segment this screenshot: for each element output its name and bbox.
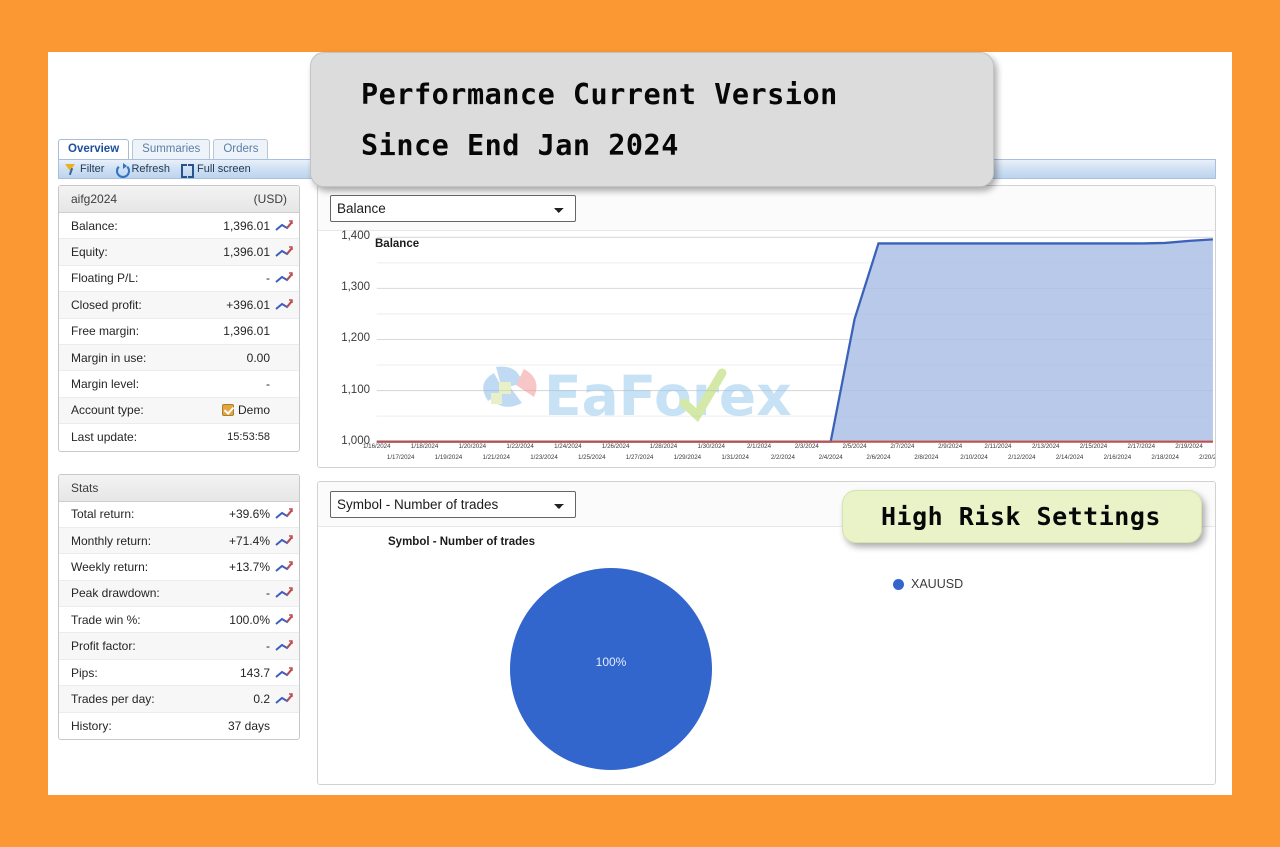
info-row-label: Account type:	[71, 403, 222, 417]
info-row-value: 0.2	[253, 692, 270, 706]
info-row-value: +39.6%	[229, 507, 270, 521]
info-row: Profit factor:-	[59, 633, 299, 659]
spark-placeholder	[275, 378, 293, 390]
info-row-value: 1,396.01	[223, 324, 270, 338]
account-rows: Balance:1,396.01Equity:1,396.01Floating …	[59, 213, 299, 451]
refresh-icon	[115, 163, 128, 176]
filter-label: Filter	[80, 163, 104, 175]
info-row-label: Total return:	[71, 507, 229, 521]
sparkline-chart-icon[interactable]	[275, 561, 293, 573]
stats-title: Stats	[71, 481, 98, 495]
info-row: Equity:1,396.01	[59, 239, 299, 265]
sparkline-chart-icon[interactable]	[275, 587, 293, 599]
info-row-label: Free margin:	[71, 324, 223, 338]
info-row: Floating P/L:-	[59, 266, 299, 292]
balance-chart-toolbar: BalanceEquityFloating P/LClosed profit	[318, 186, 1215, 231]
info-row: Monthly return:+71.4%	[59, 528, 299, 554]
callout-performance-title: Performance Current Version Since End Ja…	[310, 52, 994, 187]
spark-placeholder	[275, 720, 293, 732]
pie-metric-select[interactable]: Symbol - Number of tradesSymbol - Profit…	[330, 491, 576, 518]
refresh-label: Refresh	[131, 163, 170, 175]
stats-panel-header: Stats	[59, 475, 299, 502]
info-row-value: 15:53:58	[227, 431, 270, 443]
stats-panel: Stats Total return:+39.6%Monthly return:…	[58, 474, 300, 741]
stats-rows: Total return:+39.6%Monthly return:+71.4%…	[59, 502, 299, 740]
balance-line-chart	[318, 231, 1215, 468]
balance-chart-card: BalanceEquityFloating P/LClosed profit B…	[317, 185, 1216, 468]
filter-icon	[64, 163, 77, 176]
demo-checkbox[interactable]	[222, 404, 234, 416]
balance-plot-area: Balance EaForex	[318, 231, 1215, 468]
info-row-label: Peak drawdown:	[71, 586, 266, 600]
account-currency: (USD)	[254, 192, 287, 206]
info-row-label: Weekly return:	[71, 560, 229, 574]
account-summary-panel: aifg2024 (USD) Balance:1,396.01Equity:1,…	[58, 185, 300, 452]
callout-risk-label: High Risk Settings	[881, 502, 1201, 531]
info-row-label: Equity:	[71, 245, 223, 259]
pie-slice-percent-label: 100%	[510, 655, 712, 669]
info-row-value: 0.00	[247, 351, 270, 365]
sparkline-chart-icon[interactable]	[275, 640, 293, 652]
info-row-value: -	[266, 271, 270, 285]
sparkline-chart-icon[interactable]	[275, 535, 293, 547]
info-row: Last update:15:53:58	[59, 424, 299, 450]
fullscreen-icon	[181, 163, 194, 176]
tab-orders[interactable]: Orders	[213, 139, 268, 159]
info-row: History:37 days	[59, 713, 299, 739]
info-row-label: Profit factor:	[71, 639, 266, 653]
legend-label-xauusd: XAUUSD	[911, 577, 963, 591]
info-row: Weekly return:+13.7%	[59, 554, 299, 580]
info-row-value: 100.0%	[229, 613, 270, 627]
info-row-label: Last update:	[71, 430, 227, 444]
sparkline-chart-icon[interactable]	[275, 220, 293, 232]
refresh-button[interactable]: Refresh	[115, 163, 170, 176]
info-row-value: -	[266, 639, 270, 653]
sparkline-chart-icon[interactable]	[275, 299, 293, 311]
info-row: Pips:143.7	[59, 660, 299, 686]
pie-plot-title: Symbol - Number of trades	[388, 536, 535, 548]
balance-metric-select[interactable]: BalanceEquityFloating P/LClosed profit	[330, 195, 576, 222]
info-row: Trade win %:100.0%	[59, 607, 299, 633]
info-row: Account type:Demo	[59, 398, 299, 424]
tab-overview[interactable]: Overview	[58, 139, 129, 159]
info-row: Free margin:1,396.01	[59, 319, 299, 345]
pie-legend: XAUUSD	[893, 577, 963, 591]
info-row-label: History:	[71, 719, 228, 733]
info-row-label: Trades per day:	[71, 692, 253, 706]
sparkline-chart-icon[interactable]	[275, 272, 293, 284]
sparkline-chart-icon[interactable]	[275, 508, 293, 520]
info-row-value: +13.7%	[229, 560, 270, 574]
callout-title-line2: Since End Jan 2024	[361, 120, 993, 171]
spark-placeholder	[275, 431, 293, 443]
info-row-label: Floating P/L:	[71, 271, 266, 285]
info-row-label: Margin level:	[71, 377, 266, 391]
spark-placeholder	[275, 404, 293, 416]
info-row-value-text: Demo	[238, 403, 270, 417]
fullscreen-label: Full screen	[197, 163, 251, 175]
sparkline-chart-icon[interactable]	[275, 667, 293, 679]
content-area: aifg2024 (USD) Balance:1,396.01Equity:1,…	[58, 185, 1216, 785]
info-row: Peak drawdown:-	[59, 581, 299, 607]
sparkline-chart-icon[interactable]	[275, 693, 293, 705]
account-name: aifg2024	[71, 192, 117, 206]
info-row: Margin level:-	[59, 371, 299, 397]
callout-high-risk: High Risk Settings	[842, 490, 1202, 543]
info-row-label: Trade win %:	[71, 613, 229, 627]
tab-summaries[interactable]: Summaries	[132, 139, 210, 159]
callout-title-line1: Performance Current Version	[361, 69, 993, 120]
pie-plot-area: Symbol - Number of trades 100% XAUUSD	[318, 527, 1215, 784]
fullscreen-button[interactable]: Full screen	[181, 163, 251, 176]
spark-placeholder	[275, 352, 293, 364]
pie-slice-xauusd[interactable]: 100%	[510, 568, 712, 770]
info-row-label: Balance:	[71, 219, 223, 233]
info-row-label: Margin in use:	[71, 351, 247, 365]
info-row-value: Demo	[222, 403, 270, 417]
info-row-value: 1,396.01	[223, 219, 270, 233]
info-row: Margin in use:0.00	[59, 345, 299, 371]
spark-placeholder	[275, 325, 293, 337]
info-row: Balance:1,396.01	[59, 213, 299, 239]
info-row-label: Monthly return:	[71, 534, 229, 548]
info-row: Closed profit:+396.01	[59, 292, 299, 318]
info-row-label: Pips:	[71, 666, 240, 680]
info-row: Total return:+39.6%	[59, 502, 299, 528]
info-row: Trades per day:0.2	[59, 686, 299, 712]
account-panel-header: aifg2024 (USD)	[59, 186, 299, 213]
sparkline-chart-icon[interactable]	[275, 246, 293, 258]
info-row-value: -	[266, 586, 270, 600]
balance-plot-title: Balance	[375, 238, 419, 250]
left-column: aifg2024 (USD) Balance:1,396.01Equity:1,…	[58, 185, 300, 785]
info-row-value: +71.4%	[229, 534, 270, 548]
sparkline-chart-icon[interactable]	[275, 614, 293, 626]
info-row-value: 1,396.01	[223, 245, 270, 259]
info-row-value: -	[266, 377, 270, 391]
info-row-value: 143.7	[240, 666, 270, 680]
tab-bar: Overview Summaries Orders	[58, 140, 268, 159]
info-row-label: Closed profit:	[71, 298, 226, 312]
filter-button[interactable]: Filter	[64, 163, 104, 176]
info-row-value: +396.01	[226, 298, 270, 312]
legend-color-swatch	[893, 579, 904, 590]
info-row-value: 37 days	[228, 719, 270, 733]
right-column: BalanceEquityFloating P/LClosed profit B…	[317, 185, 1216, 785]
